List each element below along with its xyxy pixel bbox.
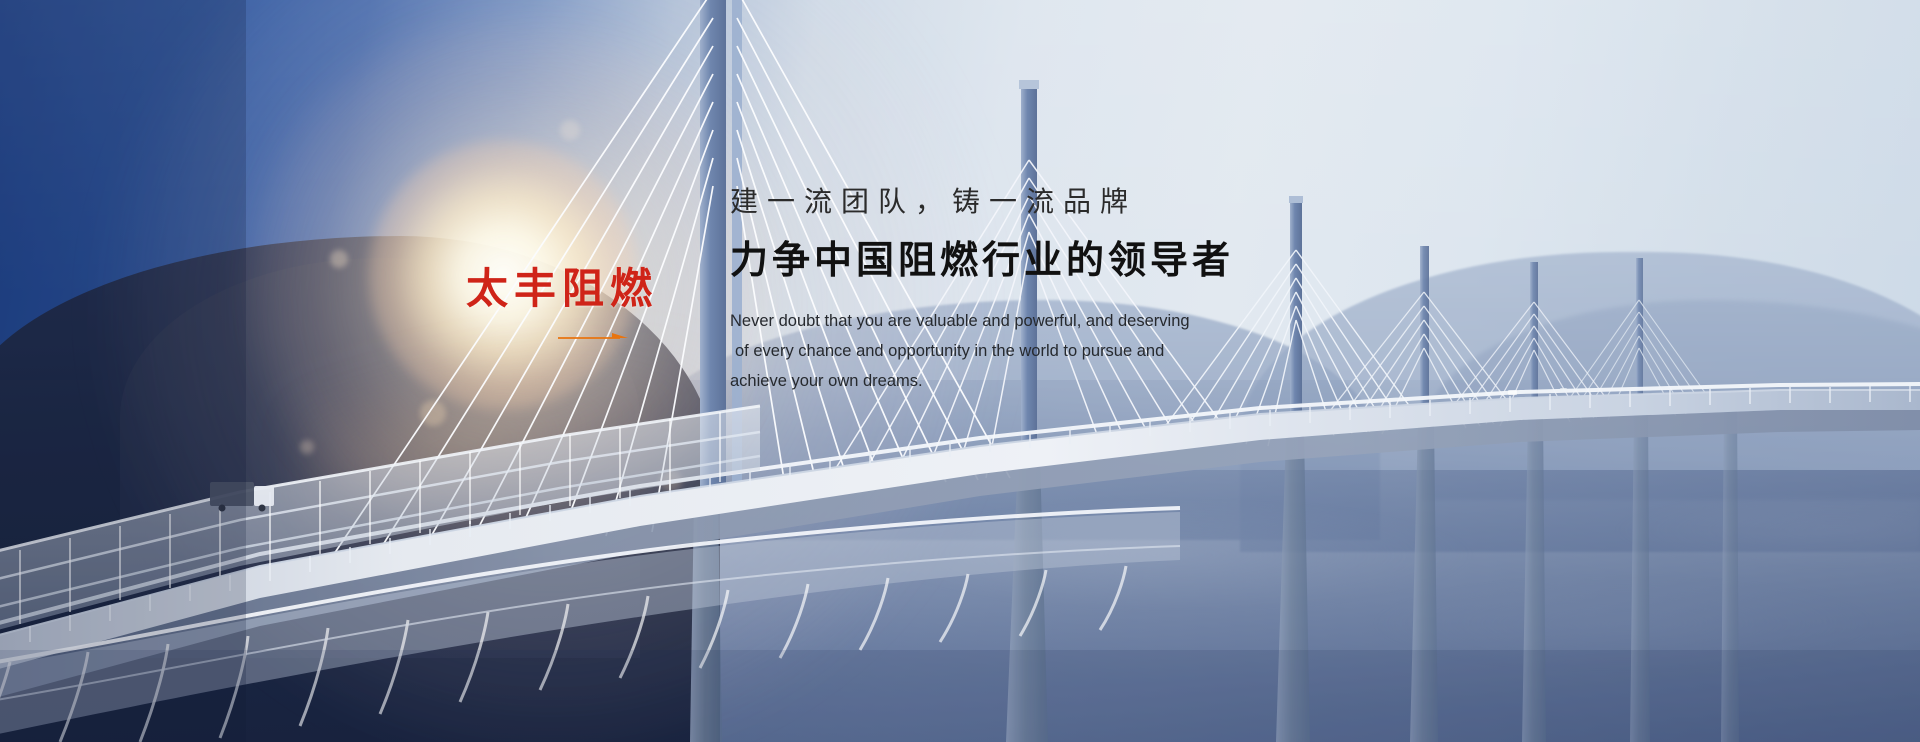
headline-block: 建一流团队，铸一流品牌 力争中国阻燃行业的领导者 Never doubt tha… (730, 186, 1430, 396)
headline-title: 力争中国阻燃行业的领导者 (730, 240, 1430, 282)
banner-content: 太丰阻燃 建一流团队，铸一流品牌 力争中国阻燃行业的领导者 Never doub… (0, 0, 1920, 742)
headline-subtitle: 建一流团队，铸一流品牌 (730, 186, 1430, 218)
brand-logo-text: 太丰阻燃 (466, 268, 766, 310)
english-line: Never doubt that you are valuable and po… (730, 306, 1300, 336)
brand-logo[interactable]: 太丰阻燃 (466, 268, 766, 342)
arrow-right-icon (558, 332, 630, 342)
english-line: achieve your own dreams. (730, 366, 1300, 396)
headline-english-paragraph: Never doubt that you are valuable and po… (730, 306, 1300, 396)
hero-banner: 太丰阻燃 建一流团队，铸一流品牌 力争中国阻燃行业的领导者 Never doub… (0, 0, 1920, 742)
english-line: of every chance and opportunity in the w… (730, 336, 1300, 366)
